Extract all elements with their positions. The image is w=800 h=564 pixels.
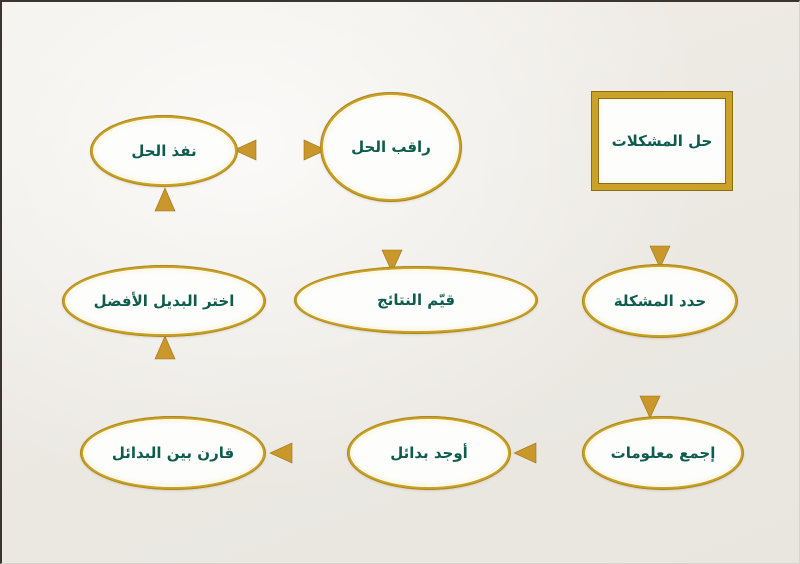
node-label: أوجد بدائل <box>390 445 468 462</box>
node-label: حل المشكلات <box>612 133 713 150</box>
node-label: اختر البديل الأفضل <box>94 293 235 310</box>
edge-monitor-to-evaluate <box>382 202 402 272</box>
node-label: راقب الحل <box>351 139 431 156</box>
edge-implement-monitor <box>234 140 326 160</box>
node-collect-info[interactable]: إجمع معلومات <box>582 416 744 490</box>
edge-define-to-collect <box>640 338 660 418</box>
node-compare-alternatives[interactable]: قارن بين البدائل <box>80 416 266 490</box>
node-evaluate-results[interactable]: قيّم النتائج <box>294 266 538 334</box>
edge-problem-to-define <box>650 190 670 268</box>
node-monitor-solution[interactable]: راقب الحل <box>320 92 462 202</box>
node-problem-solving[interactable]: حل المشكلات <box>592 92 732 190</box>
node-label: نفذ الحل <box>131 143 196 160</box>
node-choose-best-alternative[interactable]: اختر البديل الأفضل <box>62 265 266 337</box>
node-find-alternatives[interactable]: أوجد بدائل <box>347 416 511 490</box>
edge-choose-to-implement <box>155 188 175 264</box>
node-define-problem[interactable]: حدد المشكلة <box>582 264 738 338</box>
edge-find-to-compare <box>270 443 344 463</box>
node-label: قارن بين البدائل <box>112 445 234 462</box>
edge-collect-to-find <box>514 443 578 463</box>
edge-compare-to-choose <box>155 336 175 414</box>
node-implement-solution[interactable]: نفذ الحل <box>90 115 238 187</box>
node-label: حدد المشكلة <box>614 293 706 310</box>
node-label: إجمع معلومات <box>611 445 716 462</box>
node-label: قيّم النتائج <box>377 292 455 309</box>
diagram-canvas: حل المشكلات حدد المشكلة إجمع معلومات أوج… <box>0 0 800 564</box>
